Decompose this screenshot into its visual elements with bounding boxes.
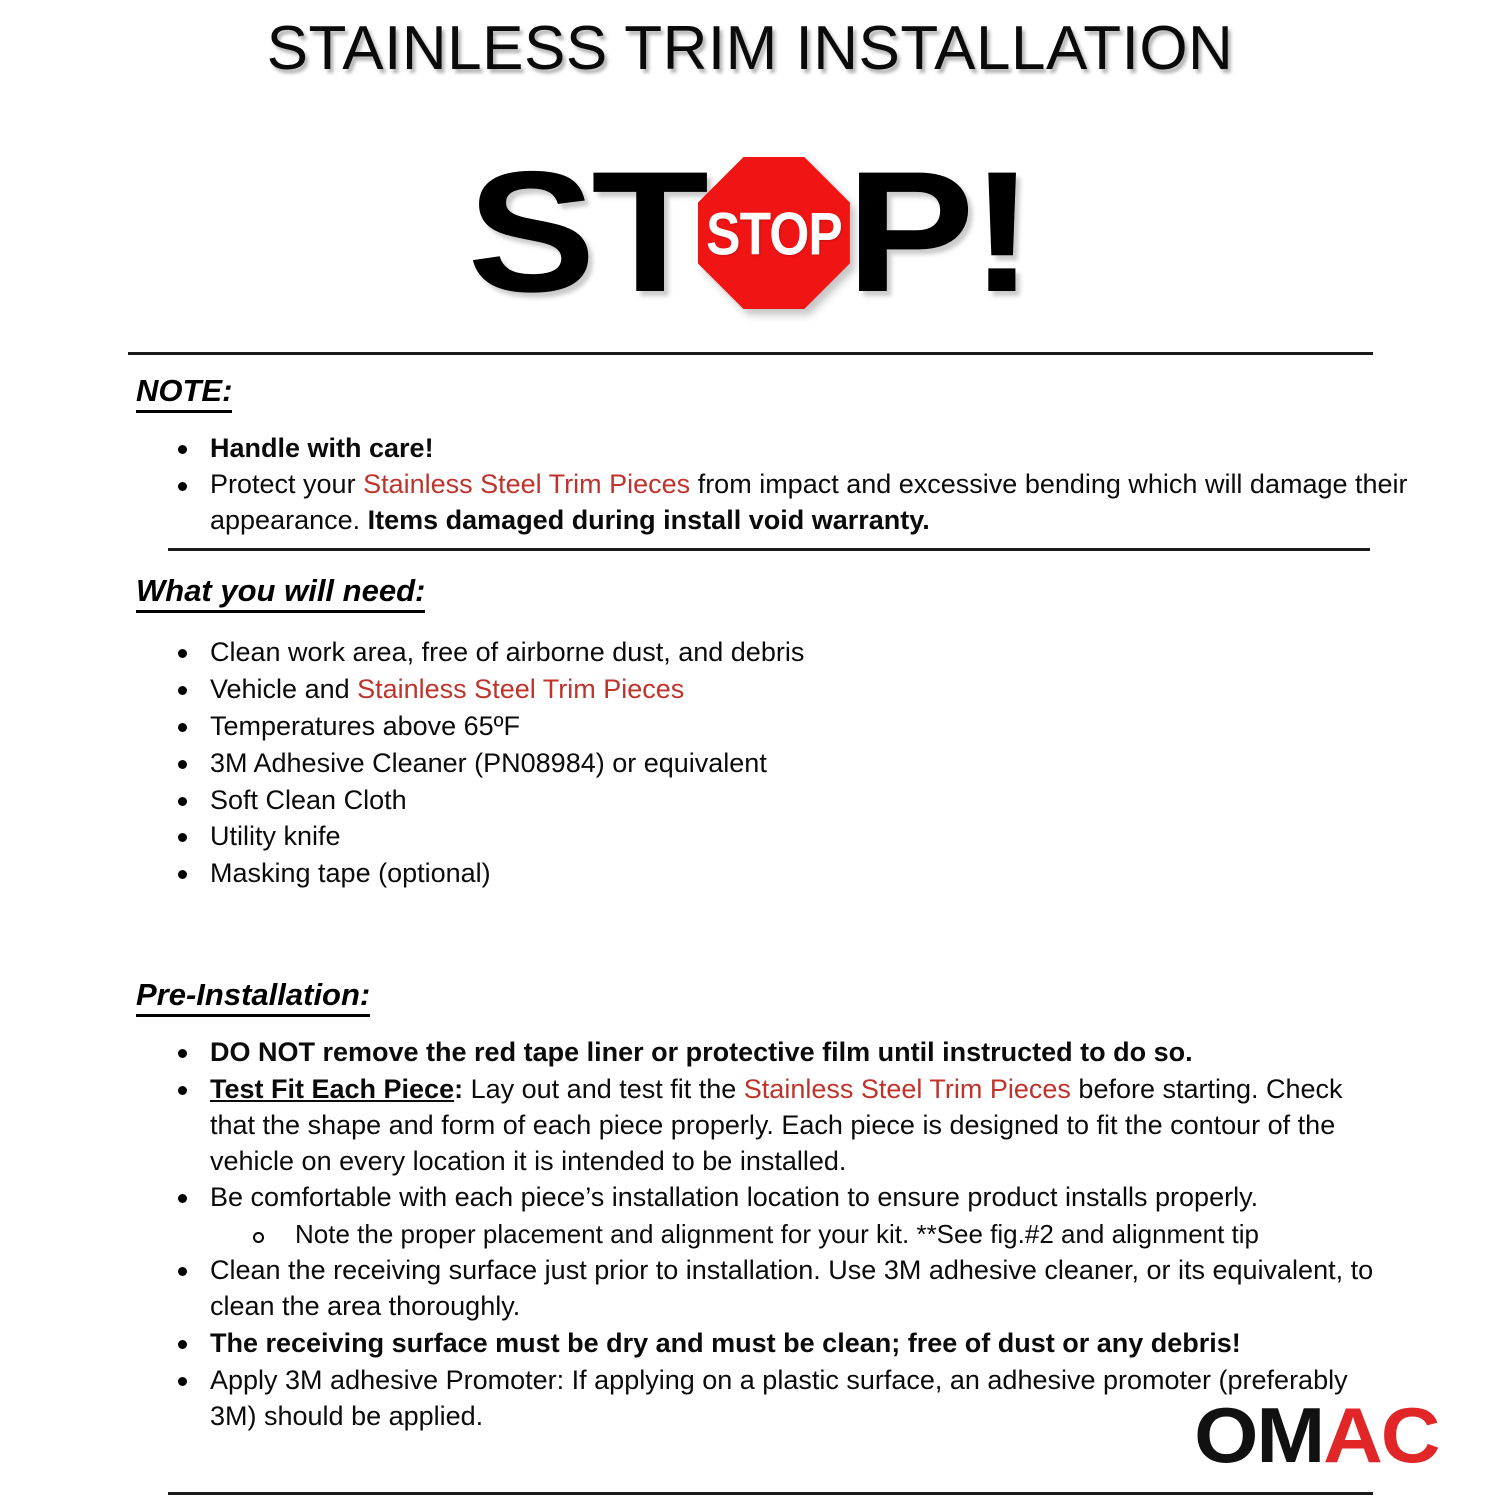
bullet-icon: [178, 445, 187, 454]
list-item-text: Vehicle and Stainless Steel Trim Pieces: [210, 674, 684, 704]
list-item: Be comfortable with each piece’s install…: [0, 1180, 1500, 1216]
list-item: Clean work area, free of airborne dust, …: [0, 635, 1500, 671]
bullet-icon: [178, 482, 187, 491]
bullet-icon: [178, 797, 187, 806]
text-run: Utility knife: [210, 821, 341, 851]
hollow-bullet-icon: [253, 1232, 264, 1243]
bullet-icon: [178, 1267, 187, 1276]
list-item-text: 3M Adhesive Cleaner (PN08984) or equival…: [210, 748, 767, 778]
list-item-text: Be comfortable with each piece’s install…: [210, 1182, 1258, 1212]
stop-sign-icon: STOP: [698, 157, 850, 309]
omac-logo-dark-text: OM: [1194, 1391, 1323, 1479]
list-item-text: Note the proper placement and alignment …: [295, 1219, 1259, 1249]
list-item-text: DO NOT remove the red tape liner or prot…: [210, 1037, 1193, 1067]
bullet-icon: [178, 1049, 187, 1058]
needs-heading: What you will need:: [136, 573, 425, 613]
text-run: Items damaged during install void warran…: [368, 505, 930, 535]
list-item: Clean the receiving surface just prior t…: [0, 1253, 1500, 1325]
text-run: Clean the receiving surface just prior t…: [210, 1255, 1373, 1321]
list-item-text: Clean work area, free of airborne dust, …: [210, 637, 804, 667]
stop-sign-label: STOP: [704, 151, 844, 315]
list-item: DO NOT remove the red tape liner or prot…: [0, 1035, 1500, 1071]
list-item: Handle with care!: [0, 431, 1500, 467]
bullet-icon: [178, 1194, 187, 1203]
omac-logo-red-text: AC: [1323, 1391, 1438, 1479]
needs-section: What you will need: Clean work area, fre…: [0, 573, 1500, 892]
bullet-icon: [178, 1377, 187, 1386]
divider-bottom: [168, 1492, 1373, 1495]
text-run: Clean work area, free of airborne dust, …: [210, 637, 804, 667]
text-run: Vehicle and: [210, 674, 357, 704]
omac-logo: OMAC: [1194, 1396, 1438, 1474]
text-run: The receiving surface must be dry and mu…: [210, 1328, 1241, 1358]
stop-logo: ST STOP P!: [0, 148, 1500, 318]
note-list: Handle with care!Protect your Stainless …: [0, 431, 1500, 540]
note-heading: NOTE:: [136, 373, 232, 413]
text-run: Lay out and test fit the: [463, 1074, 744, 1104]
list-item: Soft Clean Cloth: [0, 783, 1500, 819]
list-item: The receiving surface must be dry and mu…: [0, 1326, 1500, 1362]
note-section: NOTE: Handle with care!Protect your Stai…: [0, 373, 1500, 539]
list-item: 3M Adhesive Cleaner (PN08984) or equival…: [0, 746, 1500, 782]
list-item-text: Clean the receiving surface just prior t…: [210, 1255, 1373, 1321]
needs-list: Clean work area, free of airborne dust, …: [0, 635, 1500, 892]
bullet-icon: [178, 833, 187, 842]
bullet-icon: [178, 1086, 187, 1095]
list-item-text: Handle with care!: [210, 433, 434, 463]
list-item-text: Utility knife: [210, 821, 341, 851]
text-run: Stainless Steel Trim Pieces: [744, 1074, 1071, 1104]
stop-logo-right-text: P!: [846, 159, 1030, 307]
text-run: Protect your: [210, 469, 363, 499]
preinstall-heading: Pre-Installation:: [136, 977, 370, 1017]
list-item: Utility knife: [0, 819, 1500, 855]
text-run: Temperatures above 65ºF: [210, 711, 520, 741]
stop-logo-left-text: ST: [467, 159, 704, 307]
text-run: Test Fit Each Piece: [210, 1074, 454, 1104]
bullet-icon: [178, 760, 187, 769]
list-item: Temperatures above 65ºF: [0, 709, 1500, 745]
list-item: Test Fit Each Piece: Lay out and test fi…: [0, 1072, 1500, 1180]
bullet-icon: [178, 870, 187, 879]
list-item-text: Soft Clean Cloth: [210, 785, 407, 815]
text-run: :: [454, 1074, 463, 1104]
page-title: STAINLESS TRIM INSTALLATION: [0, 0, 1500, 80]
text-run: 3M Adhesive Cleaner (PN08984) or equival…: [210, 748, 767, 778]
list-item-text: The receiving surface must be dry and mu…: [210, 1328, 1241, 1358]
preinstall-list: DO NOT remove the red tape liner or prot…: [0, 1035, 1500, 1435]
bullet-icon: [178, 649, 187, 658]
text-run: Masking tape (optional): [210, 858, 491, 888]
bullet-icon: [178, 686, 187, 695]
list-item: Vehicle and Stainless Steel Trim Pieces: [0, 672, 1500, 708]
list-item: Protect your Stainless Steel Trim Pieces…: [0, 467, 1500, 539]
bullet-icon: [178, 723, 187, 732]
list-item-text: Temperatures above 65ºF: [210, 711, 520, 741]
list-item-text: Masking tape (optional): [210, 858, 491, 888]
bullet-icon: [178, 1340, 187, 1349]
list-item-text: Protect your Stainless Steel Trim Pieces…: [210, 469, 1408, 535]
list-item-text: Test Fit Each Piece: Lay out and test fi…: [210, 1074, 1343, 1176]
text-run: Handle with care!: [210, 433, 434, 463]
text-run: Stainless Steel Trim Pieces: [357, 674, 684, 704]
list-item-text: Apply 3M adhesive Promoter: If applying …: [210, 1365, 1348, 1431]
text-run: DO NOT remove the red tape liner or prot…: [210, 1037, 1193, 1067]
text-run: Be comfortable with each piece’s install…: [210, 1182, 1258, 1212]
list-item: Masking tape (optional): [0, 856, 1500, 892]
text-run: Apply 3M adhesive Promoter: If applying …: [210, 1365, 1348, 1431]
preinstall-section: Pre-Installation: DO NOT remove the red …: [0, 977, 1500, 1434]
text-run: Stainless Steel Trim Pieces: [363, 469, 690, 499]
text-run: Note the proper placement and alignment …: [295, 1219, 1259, 1249]
text-run: Soft Clean Cloth: [210, 785, 407, 815]
sub-list-item: Note the proper placement and alignment …: [0, 1217, 1500, 1252]
